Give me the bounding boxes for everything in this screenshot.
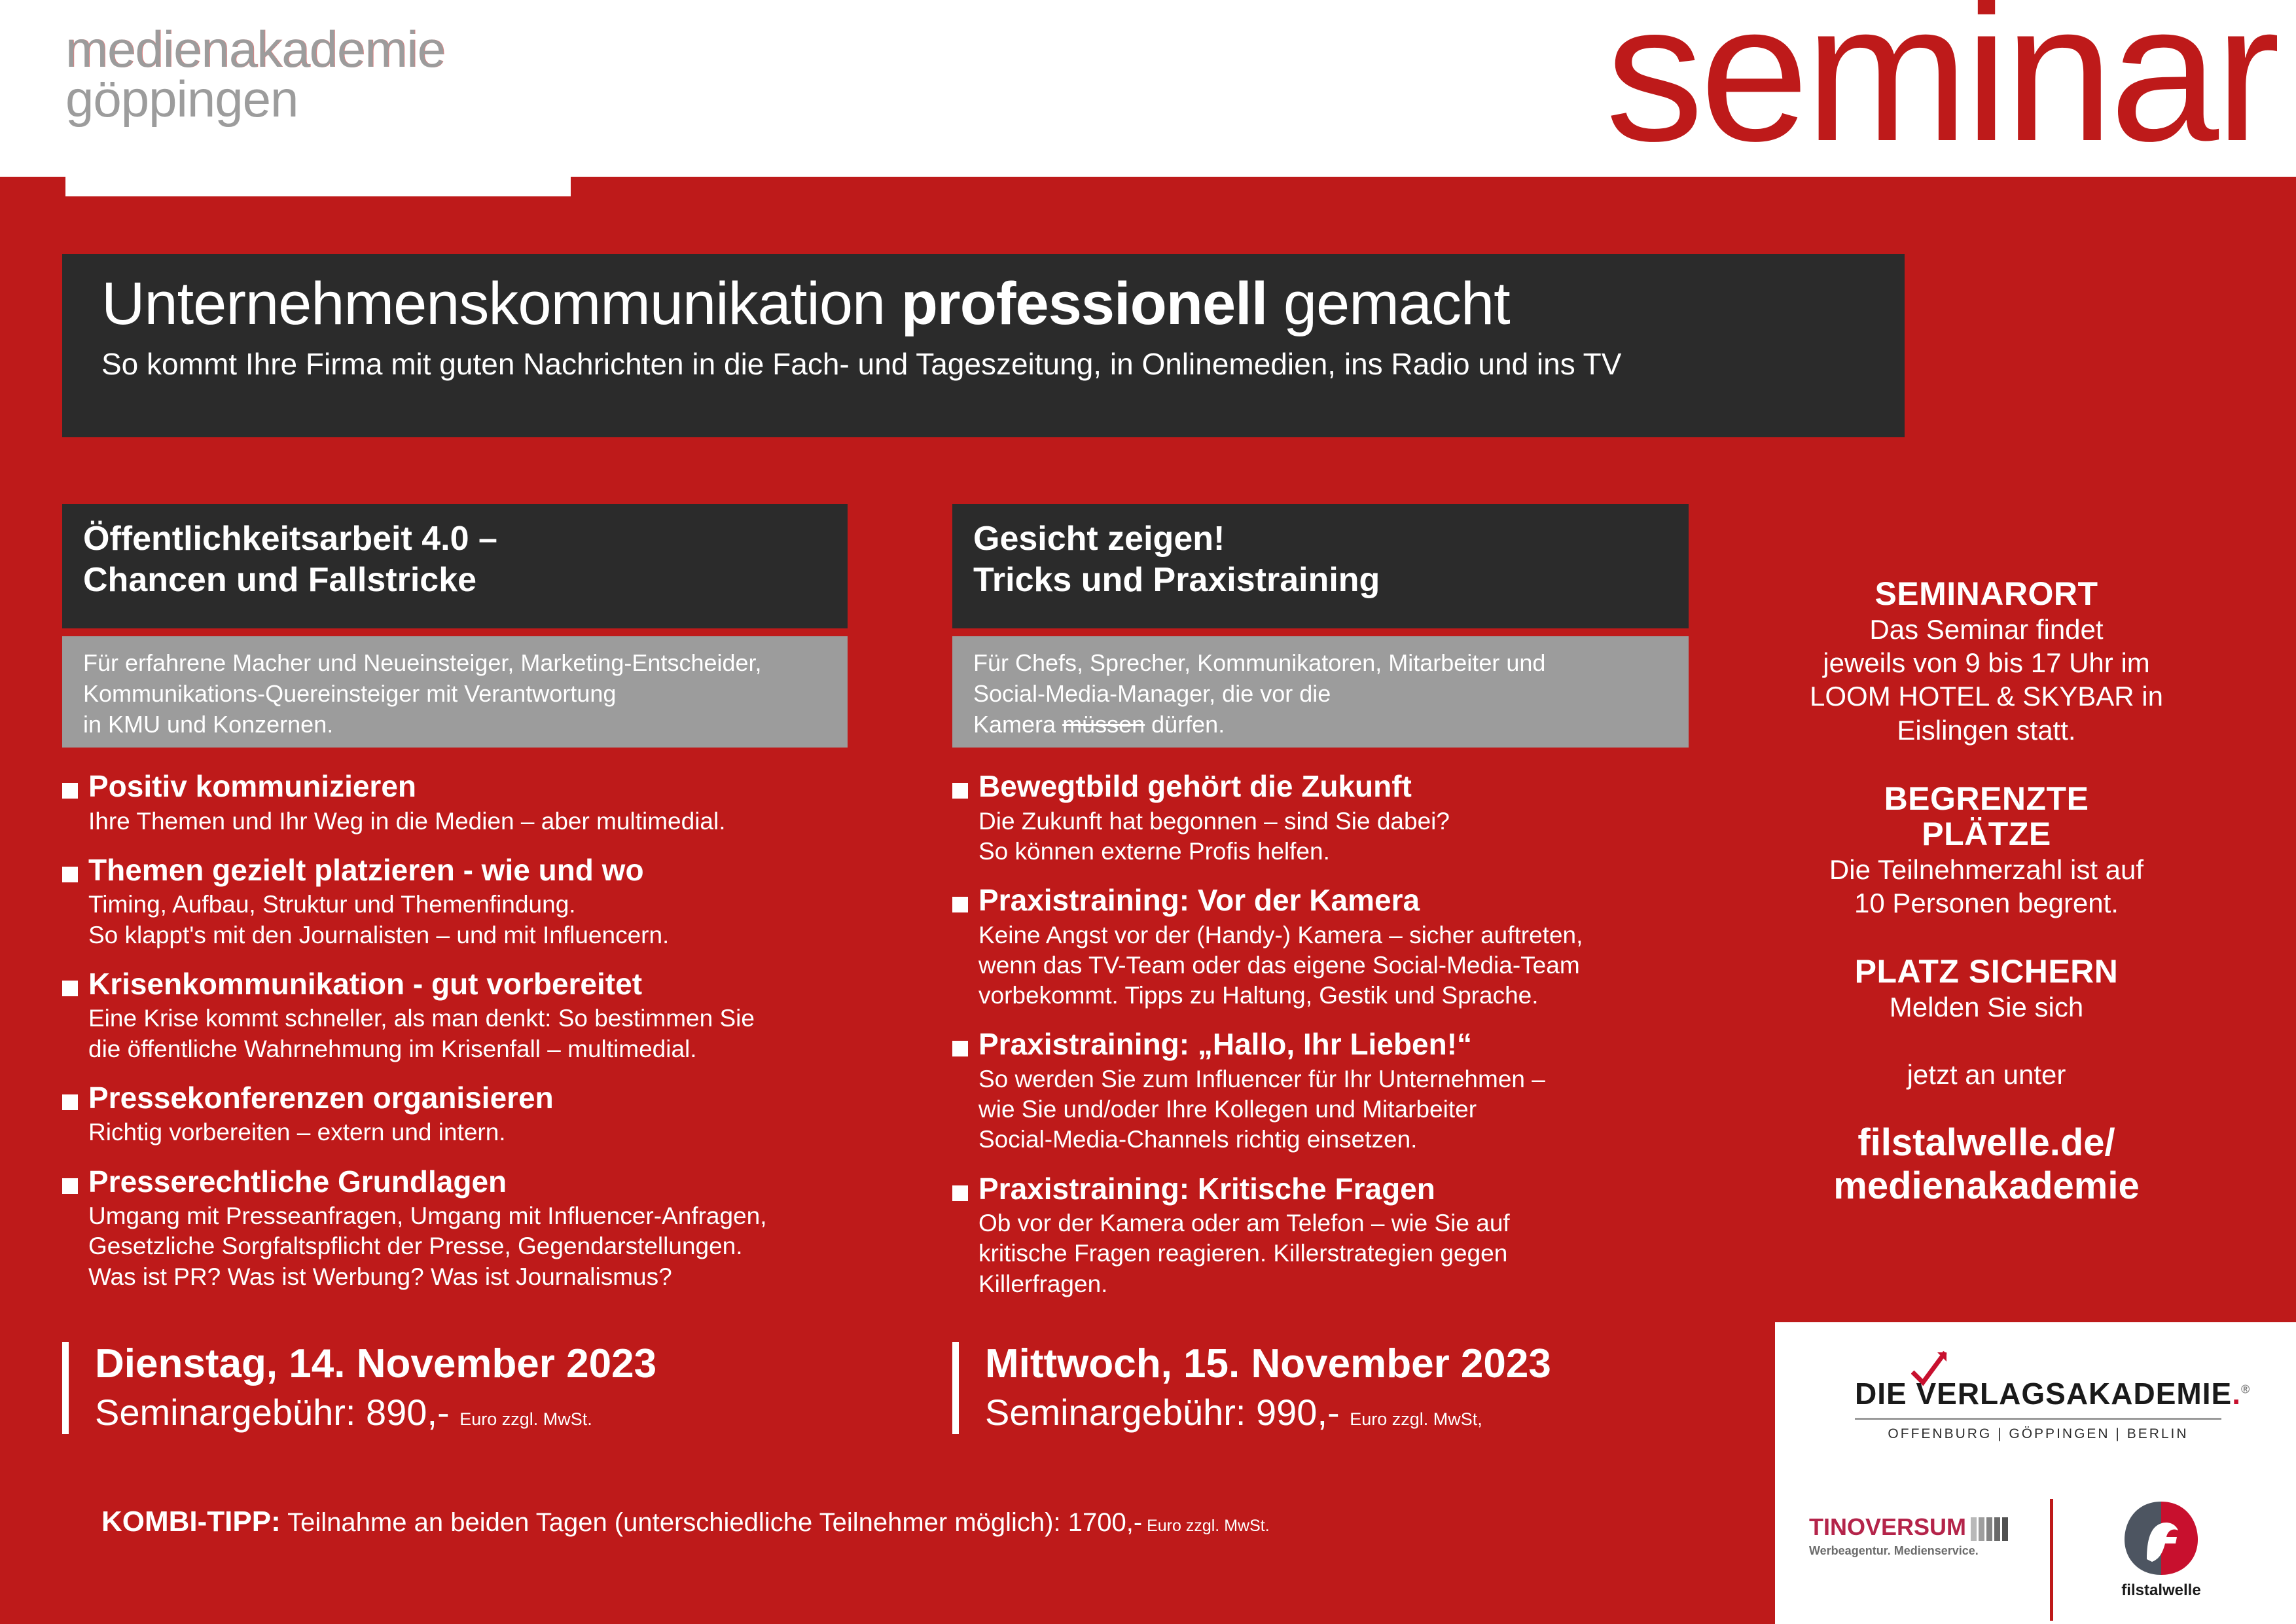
seminar-column-right: Gesicht zeigen! Tricks und Praxistrainin… xyxy=(952,504,1689,1316)
audience-line-2: Social-Media-Manager, die vor die xyxy=(973,679,1670,710)
bottom-logo-row: TINOVERSUM Werbeagentur. Medienservice. xyxy=(1775,1499,2296,1623)
brand-logo: medienakademie göppingen xyxy=(65,26,602,124)
banner-title-part2: gemacht xyxy=(1267,270,1509,337)
column-right-bullets: Bewegtbild gehört die ZukunftDie Zukunft… xyxy=(952,770,1689,1299)
bullet-title: Praxistraining: Kritische Fragen xyxy=(978,1172,1689,1206)
bullet-title: Pressekonferenzen organisieren xyxy=(88,1081,848,1115)
date-right-fee: Seminargebühr: 990,- Euro zzgl. MwSt, xyxy=(985,1392,1738,1434)
audience-line-3-strikethrough: müssen xyxy=(1062,711,1145,738)
date-left-fee: Seminargebühr: 890,- Euro zzgl. MwSt. xyxy=(95,1392,913,1434)
bullet-description: Timing, Aufbau, Struktur und Themenfindu… xyxy=(88,890,848,950)
brand-line-medienakademie: medienakademie xyxy=(65,26,602,73)
bullet-description: So werden Sie zum Influencer für Ihr Unt… xyxy=(978,1064,1689,1155)
column-right-heading: Gesicht zeigen! Tricks und Praxistrainin… xyxy=(952,504,1689,628)
sidebar-seats-heading-line1: BEGRENZTE xyxy=(1728,781,2245,816)
banner-title-bold: professionell xyxy=(901,270,1268,337)
audience-line-3-pre: Kamera xyxy=(973,711,1062,738)
sidebar-location-heading: SEMINARORT xyxy=(1728,576,2245,611)
bullet-body: Presserechtliche GrundlagenUmgang mit Pr… xyxy=(88,1165,848,1292)
kombi-label: KOMBI-TIPP: xyxy=(101,1506,281,1538)
audience-line-1: Für Chefs, Sprecher, Kommunikatoren, Mit… xyxy=(973,648,1670,679)
bullet-title: Krisenkommunikation - gut vorbereitet xyxy=(88,967,848,1001)
sidebar-secure-body: Melden Sie sich jetzt an unter xyxy=(1728,990,2245,1091)
date-left-inner: Dienstag, 14. November 2023 Seminargebüh… xyxy=(62,1342,913,1434)
bullet-square-icon xyxy=(952,1041,968,1056)
bullet-body: Positiv kommunizierenIhre Themen und Ihr… xyxy=(88,770,848,837)
banner-subtitle: So kommt Ihre Firma mit guten Nachrichte… xyxy=(101,345,1905,384)
va-dot: . xyxy=(2232,1377,2241,1411)
bullet-description: Ihre Themen und Ihr Weg in die Medien – … xyxy=(88,806,848,837)
partner-logo-panel: DIE VERLAGSAKADEMIE.® OFFENBURG | GÖPPIN… xyxy=(1775,1322,2296,1624)
bullet-title: Positiv kommunizieren xyxy=(88,770,848,804)
date-block-right: Mittwoch, 15. November 2023 Seminargebüh… xyxy=(952,1342,1738,1434)
main-banner: Unternehmenskommunikation professionell … xyxy=(62,254,1905,437)
tinoversum-row: TINOVERSUM xyxy=(1809,1513,2018,1541)
column-left-bullets: Positiv kommunizierenIhre Themen und Ihr… xyxy=(62,770,848,1292)
column-right-heading-line2: Tricks und Praxistraining xyxy=(973,560,1670,601)
bullet-description: Umgang mit Presseanfragen, Umgang mit In… xyxy=(88,1201,848,1292)
fee-value: 990,- xyxy=(1256,1392,1340,1433)
tinoversum-logo: TINOVERSUM Werbeagentur. Medienservice. xyxy=(1809,1513,2018,1558)
sidebar-seats-body: Die Teilnehmerzahl ist auf 10 Personen b… xyxy=(1728,853,2245,920)
bullet-description: Richtig vorbereiten – extern und intern. xyxy=(88,1117,848,1147)
bullet-body: Krisenkommunikation - gut vorbereitetEin… xyxy=(88,967,848,1064)
audience-line-3-post: dürfen. xyxy=(1145,711,1225,738)
bullet-description: Eine Krise kommt schneller, als man denk… xyxy=(88,1003,848,1064)
kombi-note: Euro zzgl. MwSt. xyxy=(1142,1517,1270,1535)
tinoversum-tagline: Werbeagentur. Medienservice. xyxy=(1809,1544,2018,1558)
bullet-square-icon xyxy=(62,867,78,882)
kombi-text: Teilnahme an beiden Tagen (unterschiedli… xyxy=(281,1508,1142,1537)
bullet-body: Pressekonferenzen organisierenRichtig vo… xyxy=(88,1081,848,1148)
column-right-audience: Für Chefs, Sprecher, Kommunikatoren, Mit… xyxy=(952,636,1689,748)
column-left-heading: Öffentlichkeitsarbeit 4.0 – Chancen und … xyxy=(62,504,848,628)
va-die: DIE xyxy=(1855,1377,1916,1411)
tinoversum-wordmark: TINOVERSUM xyxy=(1809,1513,1966,1541)
column-right-heading-line1: Gesicht zeigen! xyxy=(973,518,1670,560)
audience-line-3: Kamera müssen dürfen. xyxy=(973,710,1670,740)
seminar-column-left: Öffentlichkeitsarbeit 4.0 – Chancen und … xyxy=(62,504,848,1309)
bullet-square-icon xyxy=(62,783,78,799)
verlagsakademie-logo: DIE VERLAGSAKADEMIE.® OFFENBURG | GÖPPIN… xyxy=(1855,1376,2221,1442)
bullet-item: Themen gezielt platzieren - wie und woTi… xyxy=(62,854,848,950)
bullet-item: Bewegtbild gehört die ZukunftDie Zukunft… xyxy=(952,770,1689,867)
fee-note: Euro zzgl. MwSt, xyxy=(1350,1409,1482,1429)
bullet-item: Positiv kommunizierenIhre Themen und Ihr… xyxy=(62,770,848,837)
date-right-title: Mittwoch, 15. November 2023 xyxy=(985,1342,1738,1386)
date-left-title: Dienstag, 14. November 2023 xyxy=(95,1342,913,1386)
poster-root: medienakademie göppingen seminar Unterne… xyxy=(0,0,2296,1624)
logo-divider xyxy=(2050,1499,2053,1621)
audience-line-1: Für erfahrene Macher und Neueinsteiger, … xyxy=(83,648,829,679)
filstalwelle-logo: filstalwelle xyxy=(2102,1499,2220,1600)
bullet-square-icon xyxy=(952,1185,968,1201)
sidebar-spacer-2 xyxy=(1728,920,2245,954)
bullet-square-icon xyxy=(62,981,78,996)
info-sidebar: SEMINARORT Das Seminar findet jeweils vo… xyxy=(1728,576,2245,1208)
bullet-body: Praxistraining: „Hallo, Ihr Lieben!“So w… xyxy=(978,1028,1689,1155)
bullet-square-icon xyxy=(952,783,968,799)
bullet-title: Themen gezielt platzieren - wie und wo xyxy=(88,854,848,888)
column-left-audience: Für erfahrene Macher und Neueinsteiger, … xyxy=(62,636,848,748)
bullet-item: Praxistraining: Vor der KameraKeine Angs… xyxy=(952,884,1689,1011)
bullet-square-icon xyxy=(62,1178,78,1194)
bullet-item: Krisenkommunikation - gut vorbereitetEin… xyxy=(62,967,848,1064)
sidebar-url-line1[interactable]: filstalwelle.de/ xyxy=(1728,1121,2245,1164)
fee-label: Seminargebühr: xyxy=(95,1392,355,1433)
bullet-square-icon xyxy=(62,1094,78,1110)
bullet-title: Bewegtbild gehört die Zukunft xyxy=(978,770,1689,804)
banner-title: Unternehmenskommunikation professionell … xyxy=(101,272,1905,336)
audience-line-3: in KMU und Konzernen. xyxy=(83,710,829,740)
bullet-title: Praxistraining: „Hallo, Ihr Lieben!“ xyxy=(978,1028,1689,1062)
bullet-description: Die Zukunft hat begonnen – sind Sie dabe… xyxy=(978,806,1689,867)
sidebar-seats-heading-line2: PLÄTZE xyxy=(1728,816,2245,852)
bullet-body: Praxistraining: Vor der KameraKeine Angs… xyxy=(978,884,1689,1011)
kombi-tipp-line: KOMBI-TIPP: Teilnahme an beiden Tagen (u… xyxy=(101,1506,1270,1538)
sidebar-spacer-1 xyxy=(1728,747,2245,781)
date-right-inner: Mittwoch, 15. November 2023 Seminargebüh… xyxy=(952,1342,1738,1434)
audience-line-2: Kommunikations-Quereinsteiger mit Verant… xyxy=(83,679,829,710)
sidebar-secure-heading: PLATZ SICHERN xyxy=(1728,954,2245,989)
va-divider-rule xyxy=(1855,1418,2221,1420)
column-left-heading-line2: Chancen und Fallstricke xyxy=(83,560,829,601)
bullet-title: Presserechtliche Grundlagen xyxy=(88,1165,848,1199)
filstalwelle-wordmark: filstalwelle xyxy=(2102,1581,2220,1600)
bullet-item: Praxistraining: Kritische FragenOb vor d… xyxy=(952,1172,1689,1299)
date-block-left: Dienstag, 14. November 2023 Seminargebüh… xyxy=(62,1342,913,1434)
sidebar-url-line2[interactable]: medienakademie xyxy=(1728,1164,2245,1208)
banner-title-part1: Unternehmenskommunikation xyxy=(101,270,901,337)
bullet-item: Presserechtliche GrundlagenUmgang mit Pr… xyxy=(62,1165,848,1292)
fee-value: 890,- xyxy=(366,1392,450,1433)
bullet-body: Themen gezielt platzieren - wie und woTi… xyxy=(88,854,848,950)
column-left-heading-line1: Öffentlichkeitsarbeit 4.0 – xyxy=(83,518,829,560)
bullet-square-icon xyxy=(952,897,968,912)
va-name: VERLAGSAKADEMIE xyxy=(1916,1377,2232,1411)
bullet-description: Keine Angst vor der (Handy-) Kamera – si… xyxy=(978,920,1689,1011)
va-cities: OFFENBURG | GÖPPINGEN | BERLIN xyxy=(1855,1426,2221,1442)
verlagsakademie-wordmark: DIE VERLAGSAKADEMIE.® xyxy=(1855,1376,2250,1411)
bullet-body: Praxistraining: Kritische FragenOb vor d… xyxy=(978,1172,1689,1299)
sidebar-location-body: Das Seminar findet jeweils von 9 bis 17 … xyxy=(1728,613,2245,747)
tinoversum-bars-icon xyxy=(1969,1517,2008,1541)
bullet-item: Praxistraining: „Hallo, Ihr Lieben!“So w… xyxy=(952,1028,1689,1155)
bullet-item: Pressekonferenzen organisierenRichtig vo… xyxy=(62,1081,848,1148)
bullet-title: Praxistraining: Vor der Kamera xyxy=(978,884,1689,918)
filstalwelle-mark-icon xyxy=(2122,1499,2200,1578)
seminar-wordmark: seminar xyxy=(1605,0,2276,170)
bullet-description: Ob vor der Kamera oder am Telefon – wie … xyxy=(978,1208,1689,1299)
brand-line-goeppingen: göppingen xyxy=(65,73,602,124)
va-registered-icon: ® xyxy=(2241,1383,2250,1396)
fee-label: Seminargebühr: xyxy=(985,1392,1246,1433)
bullet-body: Bewegtbild gehört die ZukunftDie Zukunft… xyxy=(978,770,1689,867)
fee-note: Euro zzgl. MwSt. xyxy=(459,1409,592,1429)
